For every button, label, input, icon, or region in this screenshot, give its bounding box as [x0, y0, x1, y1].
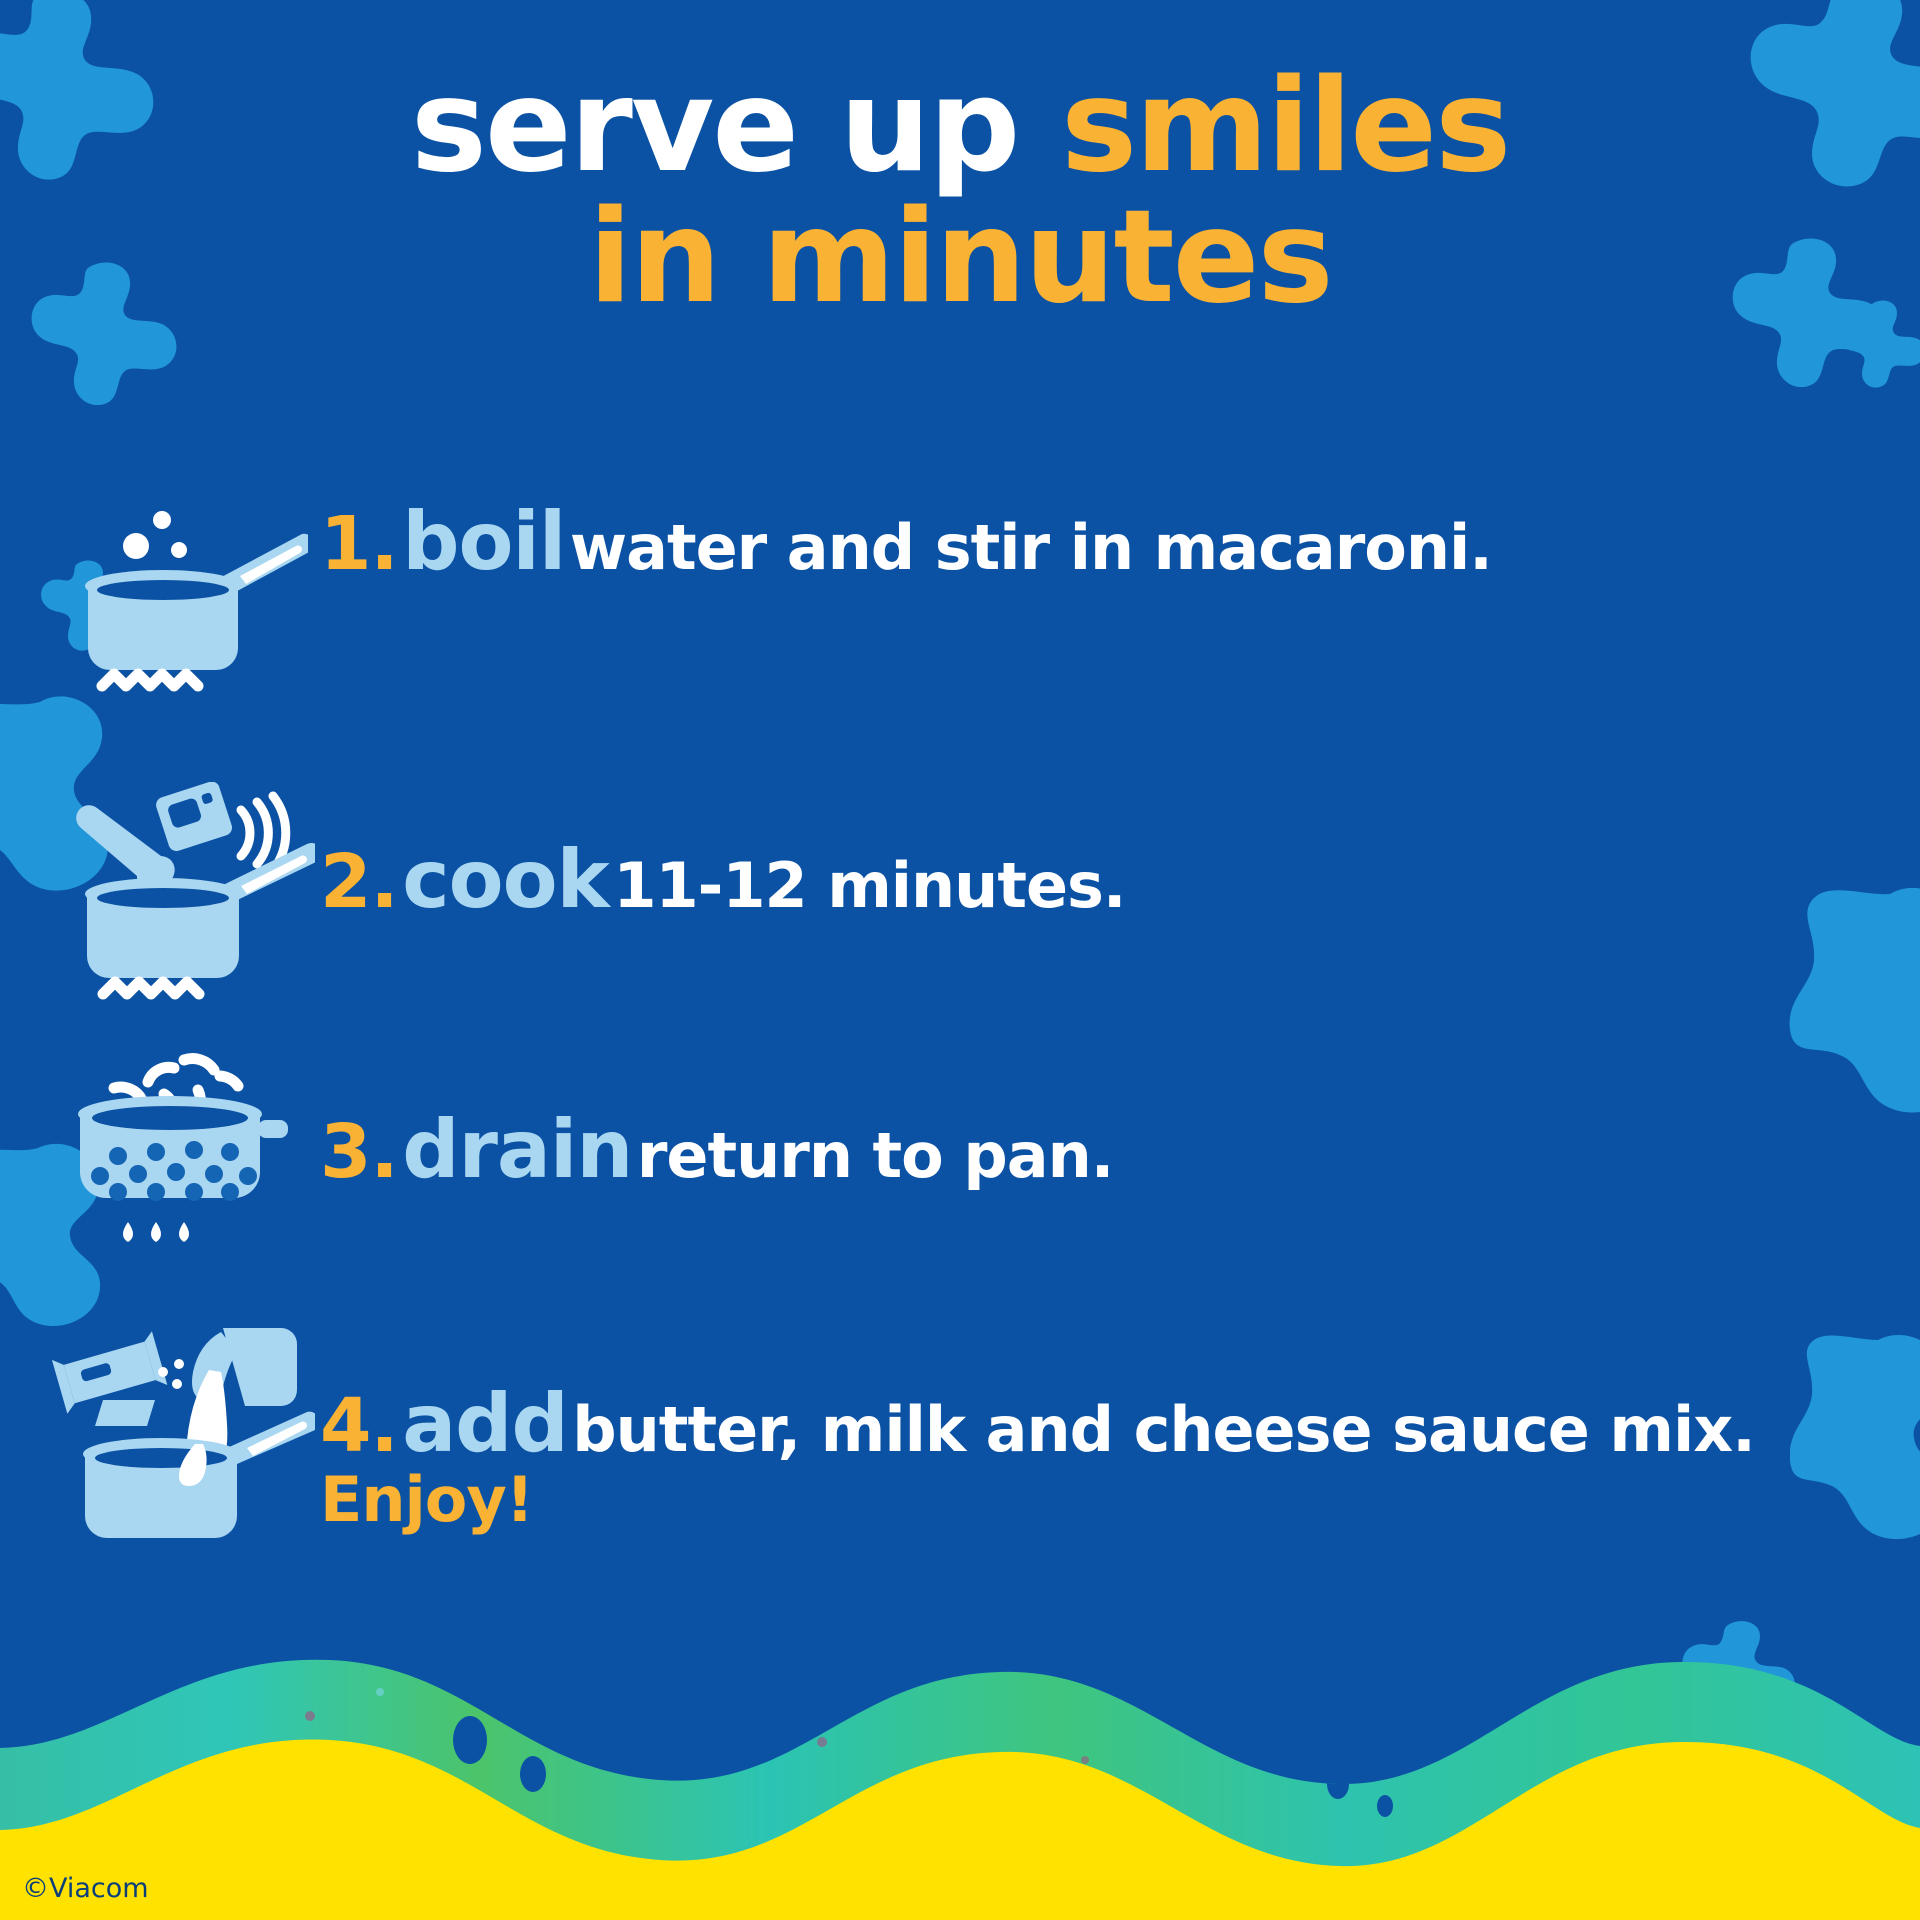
step-2-number: 2.: [320, 839, 398, 925]
steps-list: 1. boil water and stir in macaroni.: [0, 500, 1920, 1574]
step-4-keyword: add: [402, 1377, 568, 1470]
step-2-keyword: cook: [402, 833, 609, 926]
step-row-3: 3. drain return to pan.: [0, 1052, 1920, 1300]
headline-line-2: in minutes: [0, 193, 1920, 324]
pot-stirring-spoon-icon: [45, 782, 315, 1010]
headline-part-serve-up: serve up: [411, 52, 1061, 201]
step-row-4: 4. add butter, milk and cheese sauce mix…: [0, 1326, 1920, 1574]
step-4-number: 4.: [320, 1383, 398, 1469]
headline-line-1: serve up smiles: [0, 62, 1920, 193]
step-1-number: 1.: [320, 501, 398, 587]
colander-draining-icon: [52, 1052, 308, 1266]
step-row-1: 1. boil water and stir in macaroni.: [0, 500, 1920, 748]
step-4-description: butter, milk and cheese sauce mix.: [572, 1393, 1755, 1466]
step-3-description: return to pan.: [637, 1119, 1113, 1192]
headline-part-smiles: smiles: [1061, 52, 1509, 201]
step-2-text: 2. cook 11-12 minutes.: [320, 782, 1920, 923]
step-2-icon-wrap: [0, 782, 320, 1010]
pot-boiling-water-icon: [52, 500, 308, 700]
step-3-keyword: drain: [402, 1103, 632, 1196]
step-1-icon-wrap: [0, 500, 320, 700]
step-1-description: water and stir in macaroni.: [570, 511, 1492, 584]
step-4-enjoy-label: Enjoy!: [320, 1463, 533, 1536]
step-row-2: 2. cook 11-12 minutes.: [0, 782, 1920, 1030]
step-4-icon-wrap: [0, 1326, 320, 1546]
step-3-number: 3.: [320, 1109, 398, 1195]
step-2-description: 11-12 minutes.: [613, 849, 1125, 922]
step-4-text: 4. add butter, milk and cheese sauce mix…: [320, 1326, 1920, 1533]
pot-add-milk-butter-cheese-icon: [45, 1326, 315, 1546]
copyright-label: ©Viacom: [22, 1873, 149, 1904]
step-3-icon-wrap: [0, 1052, 320, 1266]
step-3-text: 3. drain return to pan.: [320, 1052, 1920, 1193]
headline: serve up smiles in minutes: [0, 62, 1920, 323]
bottom-wave-graphic: [0, 1620, 1920, 1920]
step-1-text: 1. boil water and stir in macaroni.: [320, 500, 1920, 585]
recipe-poster: serve up smiles in minutes: [0, 0, 1920, 1920]
step-1-keyword: boil: [402, 495, 565, 588]
